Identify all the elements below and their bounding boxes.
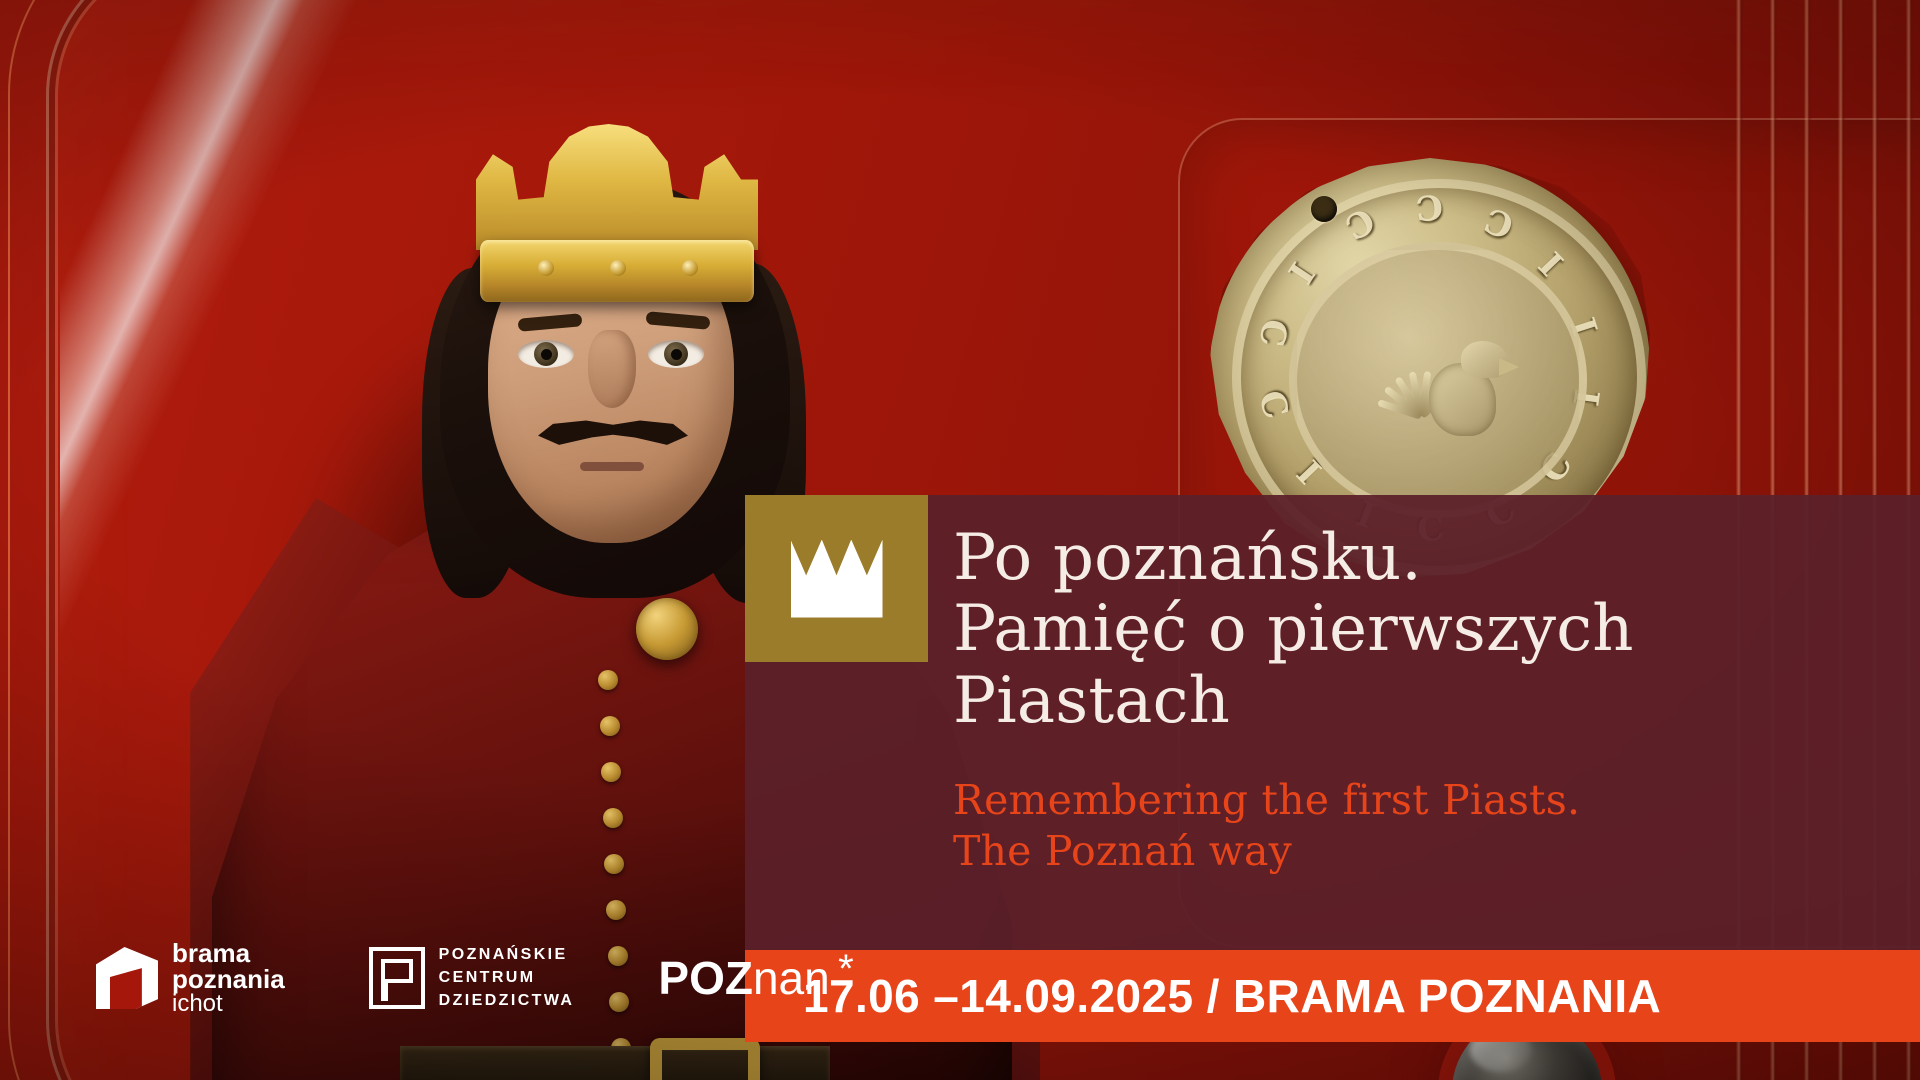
logo-line-ichot: ichot	[172, 992, 285, 1016]
mouth	[580, 462, 644, 471]
subtitle: Remembering the first Piasts. The Poznań…	[953, 775, 1903, 878]
crown-logo-tile	[745, 495, 928, 662]
coin-glyph: Ɔ	[1479, 202, 1518, 249]
cloak-clasp	[636, 598, 698, 660]
asterisk-icon: *	[838, 949, 854, 989]
logo-line-poznanskie: POZNAŃSKIE	[439, 946, 575, 964]
crown-icon	[791, 540, 883, 618]
subtitle-line-1: Remembering the first Piasts.	[953, 776, 1580, 824]
subtitle-line-2: The Poznań way	[953, 827, 1292, 875]
date-venue-text: 17.06 –14.09.2025 / BRAMA POZNANIA	[803, 969, 1661, 1023]
crown-points	[476, 124, 758, 250]
page-title: Po poznańsku. Pamięć o pierwszych Piasta…	[953, 523, 1903, 737]
iris-right	[664, 342, 688, 366]
coin-bird-beak	[1499, 358, 1519, 376]
logo-line-poznania: poznania	[172, 966, 285, 992]
logo-poznanskie-centrum-dziedzictwa[interactable]: POZNAŃSKIE CENTRUM DZIEDZICTWA	[369, 946, 575, 1010]
tunic-stud	[603, 808, 623, 828]
house-icon	[96, 947, 158, 1009]
nose	[588, 330, 636, 408]
logo-line-dziedzictwa: DZIEDZICTWA	[439, 992, 575, 1010]
logo-poz: POZ	[658, 952, 753, 1004]
crown-stud	[538, 260, 554, 276]
title-line-3: Piastach	[953, 664, 1230, 738]
logo-brama-poznania-text: brama poznania ichot	[172, 940, 285, 1016]
exhibition-poster: ƆƆIIIƆƆƆIIƆƆIƆ	[0, 0, 1920, 1080]
crown-stud	[610, 260, 626, 276]
tunic-stud	[598, 670, 618, 690]
title-block: Po poznańsku. Pamięć o pierwszych Piasta…	[953, 523, 1903, 878]
pupil-right	[671, 349, 682, 360]
logo-pcd-text: POZNAŃSKIE CENTRUM DZIEDZICTWA	[439, 946, 575, 1010]
tunic-stud	[600, 716, 620, 736]
logo-line-centrum: CENTRUM	[439, 969, 575, 987]
tunic-stud	[606, 900, 626, 920]
text-panel: Po poznańsku. Pamięć o pierwszych Piasta…	[745, 495, 1920, 1080]
coin-glyph: Ɔ	[1339, 201, 1383, 249]
iris-left	[534, 342, 558, 366]
coin-glyph: Ɔ	[1254, 317, 1297, 349]
golden-crown-icon	[472, 122, 762, 312]
title-line-1: Po poznańsku.	[953, 521, 1422, 595]
coin-hole	[1311, 196, 1337, 222]
p-monogram-icon	[369, 947, 425, 1009]
logo-brama-poznania[interactable]: brama poznania ichot	[96, 940, 285, 1016]
coin-glyph: I	[1282, 256, 1324, 291]
belt-buckle	[650, 1038, 760, 1080]
coin-inner-field	[1289, 242, 1587, 518]
logo-poznan-text: POZnan*	[658, 955, 829, 1001]
crown-stud	[682, 260, 698, 276]
eye-right	[648, 340, 704, 368]
logo-poznan-city[interactable]: POZnan*	[658, 955, 829, 1001]
logo-nan: nan	[753, 952, 830, 1004]
eye-left	[518, 340, 574, 368]
pupil-left	[541, 349, 552, 360]
partner-logos: brama poznania ichot POZNAŃSKIE CENTRUM …	[96, 940, 830, 1016]
logo-line-brama: brama	[172, 940, 285, 966]
date-venue-bar: 17.06 –14.09.2025 / BRAMA POZNANIA	[745, 950, 1920, 1042]
coin-bird-motif	[1370, 328, 1516, 453]
title-line-2: Pamięć o pierwszych	[953, 592, 1634, 666]
coin-glyph: Ɔ	[1414, 188, 1444, 230]
